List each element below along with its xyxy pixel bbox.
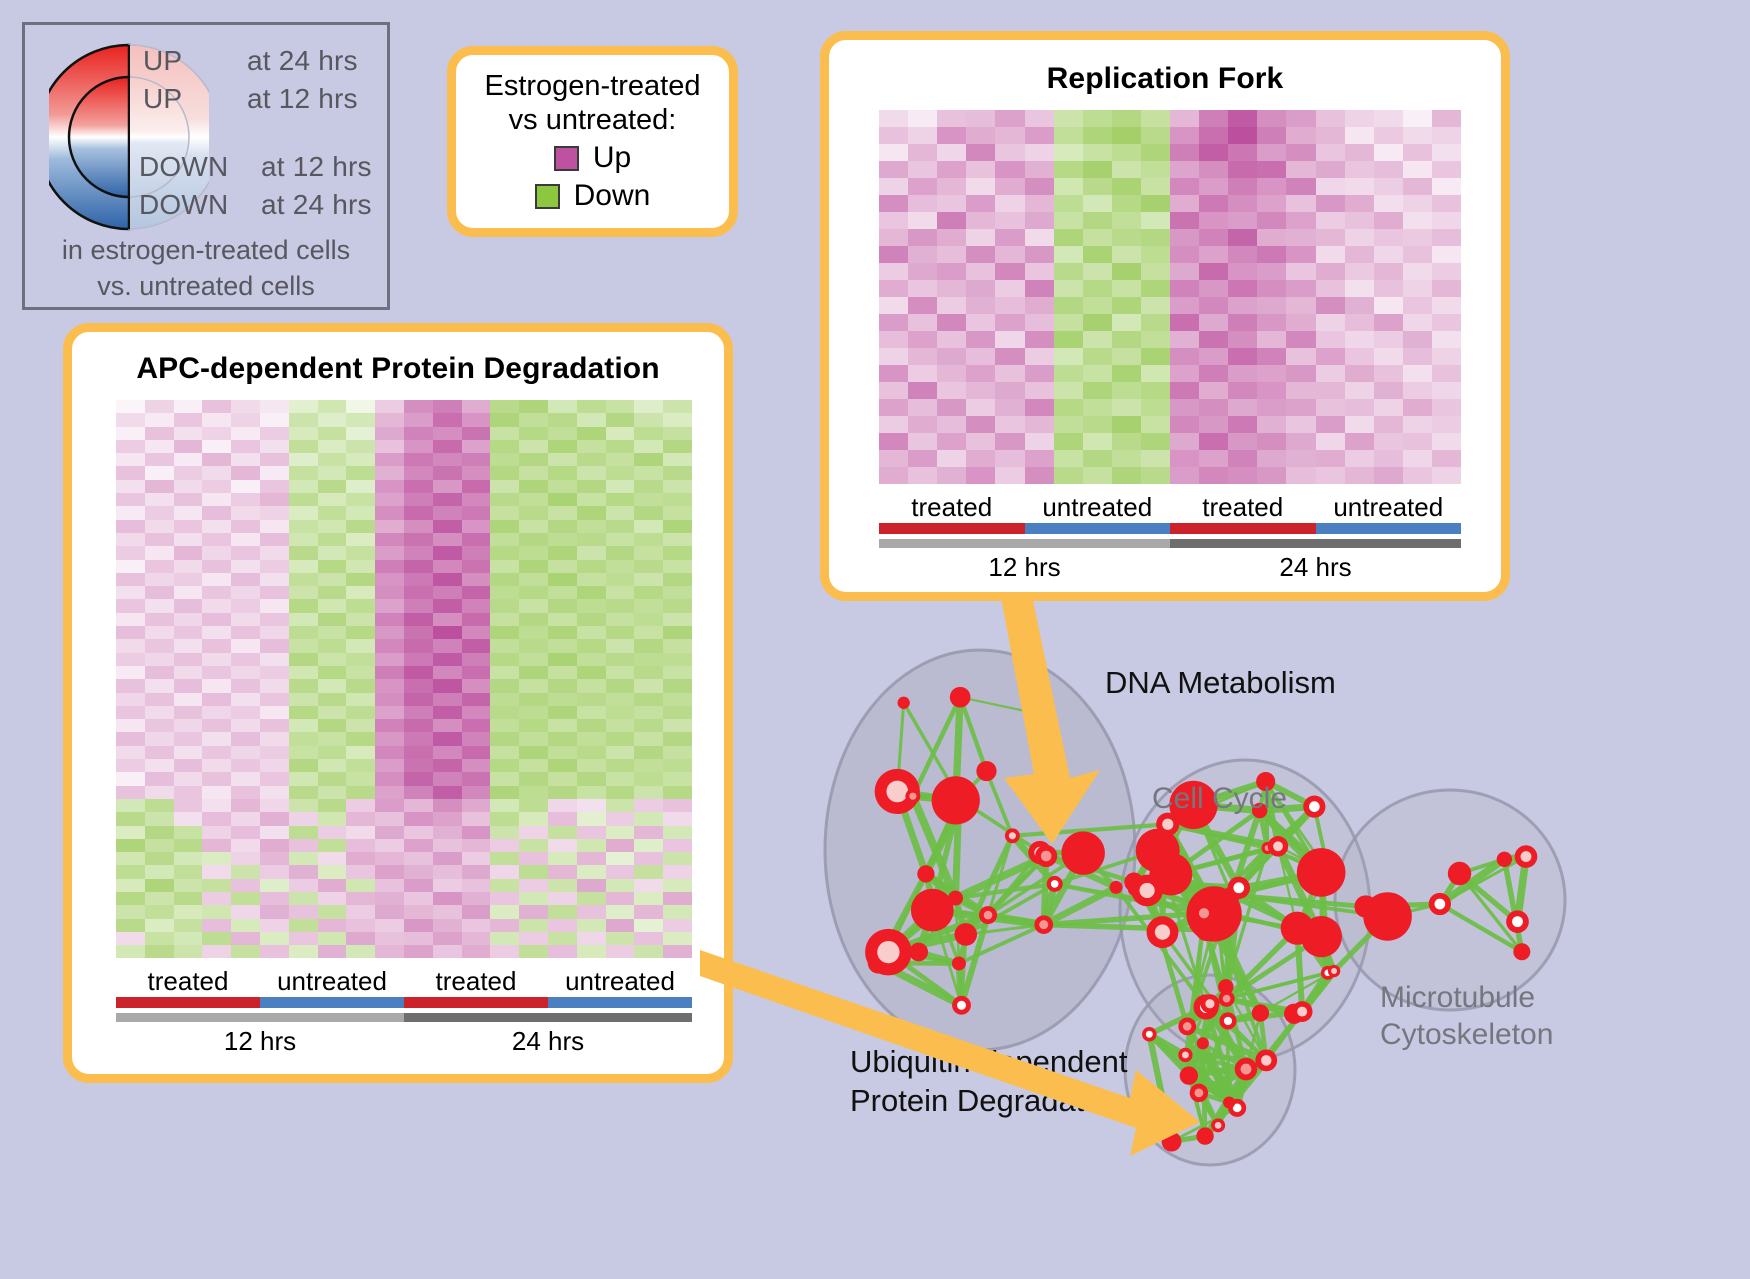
color-key-footer: in estrogen-treated cells vs. untreated … (25, 233, 387, 304)
replication-fork-title: Replication Fork (829, 62, 1501, 96)
group-label-untreated-24: untreated (1316, 492, 1462, 523)
arrow-replication-fork-to-dna-metabolism (960, 592, 1120, 852)
color-key-footer-line1: in estrogen-treated cells (25, 233, 387, 269)
cluster-label-cell-cycle: Cell Cycle (1152, 782, 1287, 816)
apc-group-label-untreated-12: untreated (260, 966, 404, 997)
color-key-box: UP at 24 hrs UP at 12 hrs DOWN at 12 hrs… (22, 22, 390, 310)
network-node (1513, 943, 1530, 960)
apc-time-label-24hrs: 24 hrs (404, 1026, 692, 1057)
network-node (1297, 848, 1346, 897)
legend-item-down: Down (456, 179, 729, 213)
network-node (1301, 916, 1342, 957)
apc-group-bars (116, 997, 692, 1008)
apc-time-bars (116, 1013, 692, 1022)
key-up-24-note: at 24 hrs (247, 45, 358, 77)
apc-title: APC-dependent Protein Degradation (72, 352, 724, 386)
group-label-treated-12: treated (879, 492, 1025, 523)
apc-group-labels: treated untreated treated untreated (116, 966, 692, 997)
cluster-label-microtubule-line1: Microtubule (1380, 980, 1553, 1017)
network-node (1354, 895, 1376, 917)
legend-title-line1: Estrogen-treated (456, 69, 729, 103)
replication-fork-heatmap (879, 110, 1461, 484)
apc-time-label-12hrs: 12 hrs (116, 1026, 404, 1057)
color-key-footer-line2: vs. untreated cells (25, 269, 387, 305)
apc-group-label-untreated-24: untreated (548, 966, 692, 997)
key-down-24-note: at 24 hrs (261, 189, 372, 221)
replication-fork-time-bars (879, 539, 1461, 548)
network-node (898, 697, 910, 709)
legend-label-down: Down (574, 179, 651, 213)
network-node (1292, 1001, 1313, 1022)
apc-time-labels: 12 hrs 24 hrs (116, 1026, 692, 1057)
key-down-12-note: at 12 hrs (261, 151, 372, 183)
legend-swatch-up-icon (554, 146, 579, 171)
network-node (1303, 796, 1325, 818)
network-node (1136, 829, 1180, 873)
network-node (1497, 852, 1512, 867)
time-label-12hrs: 12 hrs (879, 552, 1170, 583)
network-node (1228, 877, 1250, 899)
arrow-apc-to-ubiquitin-degradation (700, 930, 1260, 1160)
cluster-label-microtubule-line2: Cytoskeleton (1380, 1017, 1553, 1054)
group-label-treated-24: treated (1170, 492, 1316, 523)
replication-fork-group-bars (879, 523, 1461, 534)
cluster-label-microtubule-cytoskeleton: Microtubule Cytoskeleton (1380, 980, 1553, 1053)
cluster-label-dna-metabolism: DNA Metabolism (1105, 665, 1336, 701)
network-node (979, 906, 997, 924)
apc-panel: APC-dependent Protein Degradation treate… (63, 323, 733, 1083)
network-node (917, 865, 934, 882)
network-node (911, 889, 954, 932)
key-down-12-label: DOWN (139, 151, 228, 183)
key-up-12-label: UP (143, 83, 182, 115)
network-node (1328, 965, 1340, 977)
group-label-untreated-12: untreated (1025, 492, 1171, 523)
network-node (1448, 862, 1471, 885)
legend-label-up: Up (593, 141, 631, 175)
network-node (1268, 836, 1288, 856)
replication-fork-panel: Replication Fork treated untreated treat… (820, 31, 1510, 601)
apc-group-label-treated-12: treated (116, 966, 260, 997)
key-down-24-label: DOWN (139, 189, 228, 221)
replication-fork-group-labels: treated untreated treated untreated (879, 492, 1461, 523)
network-node (1515, 845, 1538, 868)
network-node (1131, 875, 1163, 907)
apc-heatmap (116, 400, 692, 958)
network-node (1429, 893, 1451, 915)
network-node (1506, 910, 1529, 933)
key-up-12-note: at 12 hrs (247, 83, 358, 115)
apc-group-label-treated-24: treated (404, 966, 548, 997)
network-node (905, 789, 920, 804)
legend-title: Estrogen-treated vs untreated: (456, 69, 729, 137)
legend-swatch-down-icon (535, 184, 560, 209)
network-node (1047, 876, 1063, 892)
network-node (1109, 881, 1122, 894)
legend-item-up: Up (456, 141, 729, 175)
updown-legend-panel: Estrogen-treated vs untreated: Up Down (447, 46, 738, 237)
legend-title-line2: vs untreated: (456, 103, 729, 137)
key-up-24-label: UP (143, 45, 182, 77)
time-label-24hrs: 24 hrs (1170, 552, 1461, 583)
replication-fork-time-labels: 12 hrs 24 hrs (879, 552, 1461, 583)
